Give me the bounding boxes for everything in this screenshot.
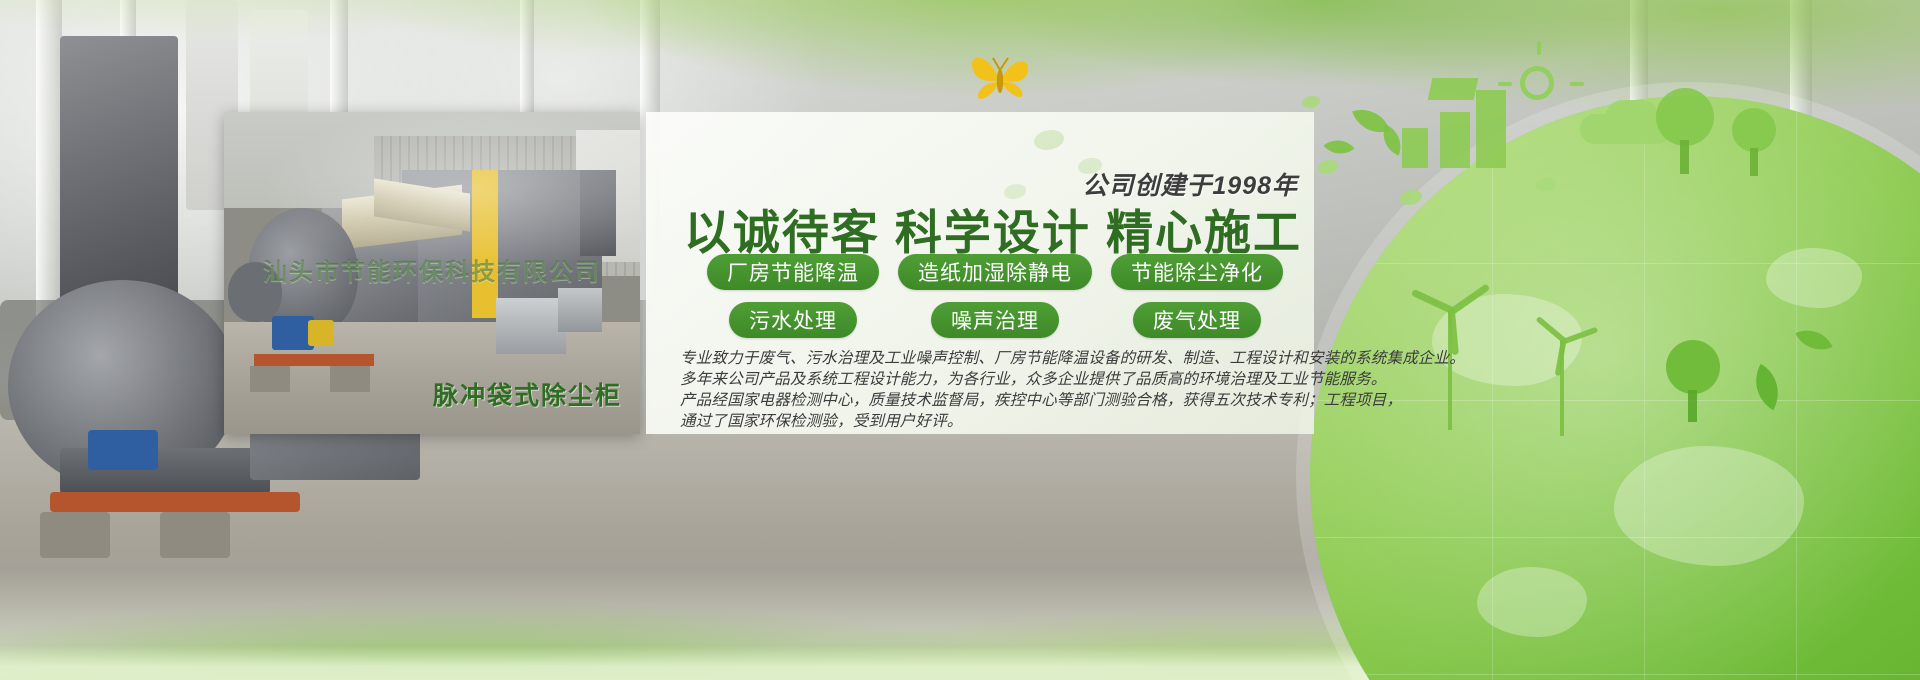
service-tag-list: 厂房节能降温 造纸加湿除静电 节能除尘净化 污水处理 噪声治理 废气处理 (692, 254, 1298, 338)
dust-collector-cabinet-photo: 汕头市节能环保科技有限公司 脉冲袋式除尘柜 (224, 112, 640, 434)
description-line: 通过了国家环保检测验，受到用户好评。 (680, 411, 1320, 432)
service-tag-sewage-treatment[interactable]: 污水处理 (729, 302, 857, 338)
service-tag-paper-humidify[interactable]: 造纸加湿除静电 (898, 254, 1092, 290)
service-tag-exhaust-treatment[interactable]: 废气处理 (1133, 302, 1261, 338)
service-tag-noise-control[interactable]: 噪声治理 (931, 302, 1059, 338)
company-description: 专业致力于废气、污水治理及工业噪声控制、厂房节能降温设备的研发、制造、工程设计和… (680, 348, 1320, 432)
butterfly-icon (1034, 130, 1064, 150)
service-tag-factory-cooling[interactable]: 厂房节能降温 (707, 254, 879, 290)
description-line: 专业致力于废气、污水治理及工业噪声控制、厂房节能降温设备的研发、制造、工程设计和… (680, 348, 1320, 369)
photo-watermark: 汕头市节能环保科技有限公司 (224, 252, 640, 287)
content-card: 公司创建于1998年 以诚待客 科学设计 精心施工 厂房节能降温 造纸加湿除静电… (646, 112, 1314, 434)
description-line: 多年来公司产品及系统工程设计能力，为各行业，众多企业提供了品质高的环境治理及工业… (680, 369, 1320, 390)
promo-banner: 汕头市节能环保科技有限公司 脉冲袋式除尘柜 公司创建于1998年 以诚待客 科学… (0, 0, 1920, 680)
service-tag-dust-purification[interactable]: 节能除尘净化 (1111, 254, 1283, 290)
page-title: 以诚待客 科学设计 精心施工 (684, 194, 1302, 263)
photo-caption: 脉冲袋式除尘柜 (433, 376, 622, 412)
description-line: 产品经国家电器检测中心，质量技术监督局，疾控中心等部门测验合格，获得五次技术专利… (680, 390, 1320, 411)
gold-butterfly-icon (963, 46, 1037, 116)
